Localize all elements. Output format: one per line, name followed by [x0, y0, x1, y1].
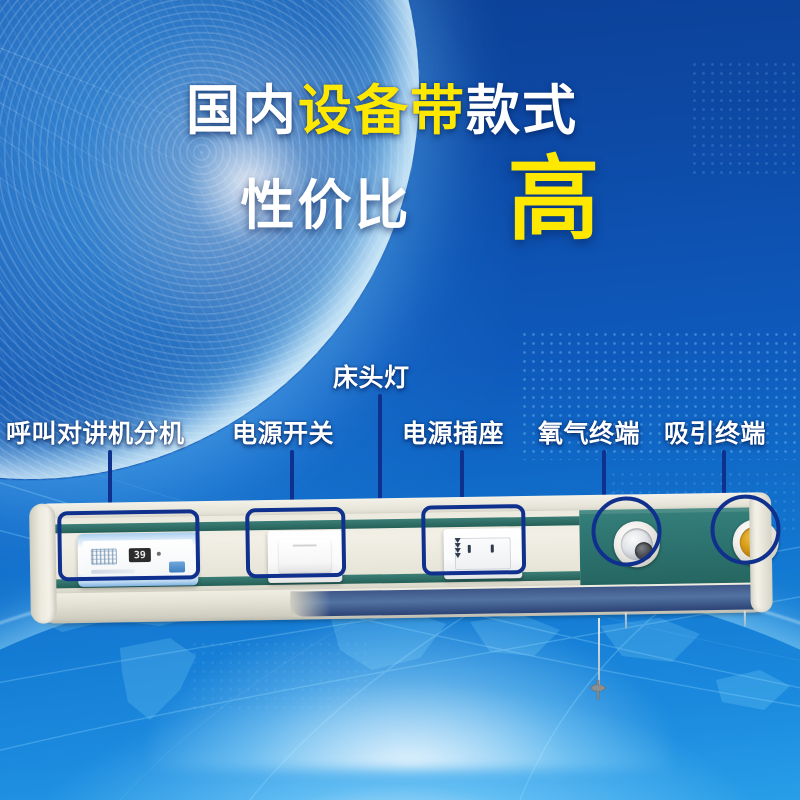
- highlight-box-power-switch: [245, 507, 346, 579]
- highlight-box-intercom: [57, 509, 200, 581]
- callout-label-bed-lamp: 床头灯: [333, 358, 410, 394]
- callout-label-oxygen-terminal: 氧气终端: [538, 414, 640, 450]
- callout-label-power-socket: 电源插座: [402, 414, 504, 450]
- highlight-box-power-socket: [421, 504, 526, 576]
- callout-layer: 呼叫对讲机分机 电源开关 床头灯 电源插座 氧气终端 吸引终端: [0, 0, 800, 800]
- lamp-pull-cord-toggle[interactable]: [590, 680, 606, 700]
- callout-label-suction-terminal: 吸引终端: [664, 414, 766, 450]
- oxygen-cord-stub: [625, 612, 627, 628]
- unit-left-endcap: [29, 503, 57, 623]
- bed-head-unit: 39: [29, 492, 773, 634]
- callout-label-intercom: 呼叫对讲机分机: [6, 414, 185, 450]
- suction-cord-stub: [744, 611, 746, 627]
- callout-label-power-switch: 电源开关: [232, 414, 334, 450]
- product-banner-stage: 国内设备带款式 性价比 高 呼叫对讲机分机 电源开关 床头灯 电源插座 氧气终端…: [0, 0, 800, 800]
- lamp-pull-cord[interactable]: [598, 618, 600, 686]
